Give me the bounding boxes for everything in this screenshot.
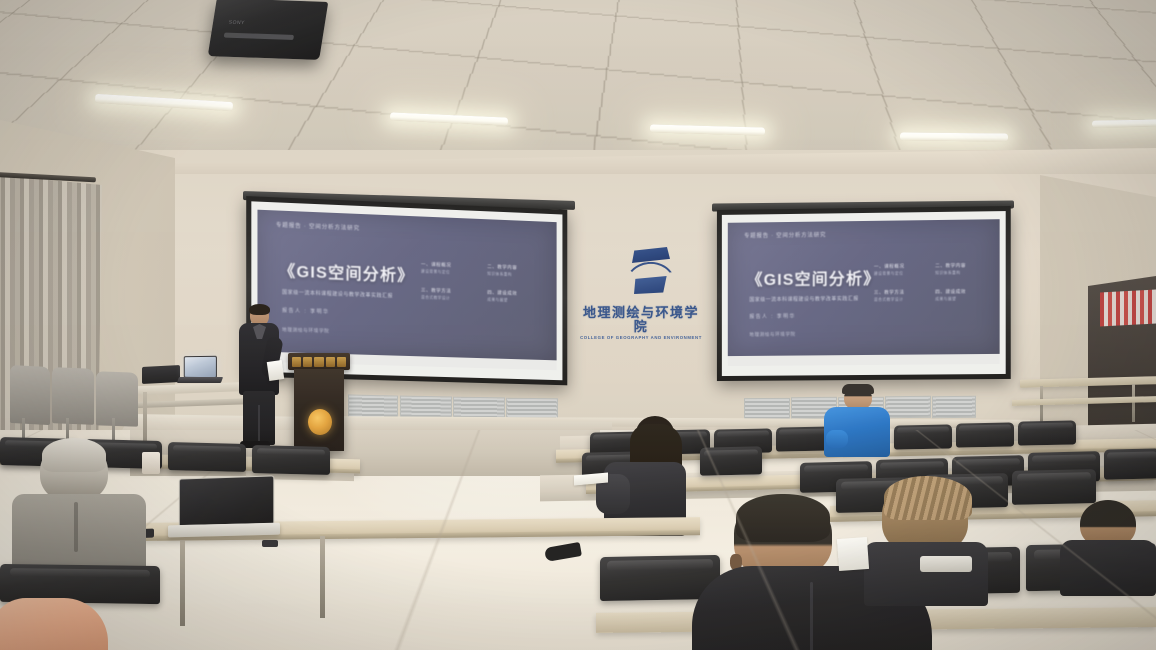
slide-content: 专题报告 · 空间分析方法研究 《GIS空间分析》 国家级一流本科课程建设与教学… (257, 210, 556, 361)
agenda-item-title: 二、教学内容 (487, 264, 545, 272)
seat-highlight (959, 425, 1010, 431)
seat (1018, 420, 1076, 445)
seat (1104, 448, 1156, 479)
agenda-item-title: 三、教学方法 (874, 289, 927, 296)
seat-highlight (1032, 454, 1095, 462)
slide-presenter-line: 报告人 : 李明华 (282, 307, 329, 316)
slide-affiliation-line: 地理测绘与环境学院 (282, 327, 329, 335)
right-projection-screen: 专题报告 · 空间分析方法研究 《GIS空间分析》 国家级一流本科课程建设与教学… (717, 206, 1011, 381)
attendee-torso (0, 598, 108, 650)
lectern-top-text (292, 356, 346, 367)
projector-icon: SONY (208, 0, 329, 60)
attendee-peach-top (0, 592, 110, 650)
slide-agenda-grid: 一、课程概况 建设背景与定位 二、教学内容 知识体系重构 三、教学方法 混合式教… (421, 261, 545, 304)
attendee-hair (736, 494, 830, 542)
slide-content: 专题报告 · 空间分析方法研究 《GIS空间分析》 国家级一流本科课程建设与教学… (728, 219, 1000, 356)
right-screen-canvas: 专题报告 · 空间分析方法研究 《GIS空间分析》 国家级一流本科课程建设与教学… (722, 211, 1006, 376)
seat-highlight (880, 461, 943, 469)
agenda-item-sub: 混合式教学设计 (874, 297, 927, 303)
slide-agenda-item: 一、课程概况 建设背景与定位 (874, 263, 927, 277)
slide-agenda-item: 二、教学内容 知识体系重构 (487, 264, 545, 279)
slide-agenda-item: 三、教学方法 混合式教学设计 (421, 287, 479, 302)
agenda-item-sub: 建设背景与定位 (421, 269, 479, 276)
seat-highlight (704, 449, 759, 456)
college-name-chinese: 地理测绘与环境学院 (578, 306, 704, 333)
slide-subtitle: 国家级一流本科课程建设与教学改革实践汇报 (282, 289, 393, 300)
wall-vent (744, 398, 790, 420)
seat-highlight (717, 431, 768, 437)
lectern-char (314, 357, 323, 367)
slide-header: 专题报告 · 空间分析方法研究 (744, 231, 826, 240)
attendee-torso (864, 542, 988, 606)
projector-brand-label: SONY (228, 19, 245, 26)
slide-subtitle: 国家级一流本科课程建设与教学改革实践汇报 (749, 295, 858, 303)
lectern (288, 353, 350, 451)
agenda-item-sub: 成果与展望 (935, 297, 989, 303)
side-chair (96, 371, 138, 426)
attendee-hair (884, 476, 972, 520)
seat-highlight (804, 464, 867, 472)
doorway-banner (1100, 290, 1156, 327)
agenda-item-title: 三、教学方法 (421, 287, 479, 295)
seat (168, 442, 246, 472)
attendee-light-hair (862, 476, 992, 596)
attendee-torso (1060, 540, 1156, 596)
agenda-item-title: 一、课程概况 (421, 261, 479, 269)
slide-header: 专题报告 · 空间分析方法研究 (276, 220, 360, 231)
lectern-char (303, 357, 312, 367)
presenter-notes (267, 360, 284, 381)
seat-highlight (1017, 473, 1091, 482)
agenda-item-sub: 知识体系重构 (935, 270, 989, 276)
lectern-seal-icon (308, 409, 332, 435)
seat-highlight (257, 448, 326, 456)
slide-agenda-item: 三、教学方法 混合式教学设计 (874, 289, 927, 303)
university-emblem-icon (620, 247, 678, 299)
emblem-bottom-shape (634, 276, 668, 294)
paper-cup (142, 452, 160, 474)
presenter-leg-split (258, 405, 260, 441)
seat-highlight (956, 458, 1019, 466)
seat-highlight (1021, 423, 1072, 429)
agenda-item-title: 四、建设成效 (487, 290, 545, 298)
slide-agenda-item: 四、建设成效 成果与展望 (935, 289, 989, 303)
college-name-english: COLLEGE OF GEOGRAPHY AND ENVIRONMENT (578, 335, 704, 340)
seat-highlight (173, 445, 242, 453)
agenda-item-title: 一、课程概况 (874, 263, 927, 270)
lectern-top (288, 353, 350, 370)
agenda-item-title: 二、教学内容 (935, 262, 989, 269)
slide-agenda-item: 四、建设成效 成果与展望 (487, 290, 545, 305)
slide-agenda-item: 二、教学内容 知识体系重构 (935, 262, 989, 276)
attendee-mid-right (1060, 500, 1156, 590)
slide-agenda-grid: 一、课程概况 建设背景与定位 二、教学内容 知识体系重构 三、教学方法 混合式教… (874, 262, 989, 302)
slide-affiliation-line: 地理测绘与环境学院 (749, 331, 795, 337)
presenter-hair (249, 304, 270, 315)
table-leg (1040, 386, 1043, 426)
paper-notes (837, 537, 869, 571)
seat (700, 446, 762, 475)
desk-leg (180, 540, 185, 626)
paper-document (920, 556, 972, 572)
attendee-blue-jacket (818, 386, 894, 466)
ceiling-light (1092, 119, 1156, 127)
lectern-body (294, 369, 344, 451)
presenter (238, 305, 280, 445)
attendee-jacket-seam (810, 582, 813, 650)
side-chair (10, 365, 50, 425)
attendee-collar-seam (74, 502, 78, 552)
wall-vent (932, 396, 976, 419)
seat (252, 445, 330, 475)
attendee-cap-icon (842, 384, 874, 394)
seat (894, 424, 952, 449)
attendee-hair (42, 438, 106, 472)
av-equipment-box (142, 365, 180, 384)
lectern-char (292, 357, 301, 367)
agenda-item-sub: 知识体系重构 (487, 272, 545, 279)
control-laptop-screen (184, 356, 217, 378)
side-chair (52, 367, 94, 425)
projector-lens-strip (224, 32, 294, 39)
seat-highlight (1107, 451, 1156, 459)
lectern-char (337, 357, 346, 367)
wall-vent (348, 394, 398, 418)
control-desk-leg (143, 392, 147, 444)
agenda-item-sub: 建设背景与定位 (874, 271, 927, 277)
agenda-item-sub: 成果与展望 (487, 298, 545, 305)
table-leg (1132, 384, 1135, 422)
seat (956, 422, 1014, 447)
slide-title: 《GIS空间分析》 (279, 257, 414, 286)
ceiling-light (900, 133, 1008, 142)
slide-presenter-line: 报告人 : 李明华 (749, 313, 795, 320)
desk-leg (320, 536, 325, 618)
attendee-senior-gray (18, 440, 138, 570)
emblem-top-shape (632, 247, 670, 263)
college-name-sign: 地理测绘与环境学院 COLLEGE OF GEOGRAPHY AND ENVIR… (578, 306, 704, 340)
lectern-char (326, 357, 335, 367)
attendee-torso (12, 494, 146, 572)
laptop-screen[interactable] (179, 475, 274, 526)
agenda-item-sub: 混合式教学设计 (421, 295, 479, 302)
agenda-item-title: 四、建设成效 (935, 289, 989, 296)
slide-agenda-item: 一、课程概况 建设背景与定位 (421, 261, 479, 276)
lecture-hall-photo: SONY 地理测绘与环境学院 COLLEGE OF GEOGRAPHY AND … (0, 0, 1156, 650)
seat-highlight (10, 568, 151, 578)
seat-highlight (897, 427, 948, 433)
control-laptop-base (177, 377, 223, 383)
pen (262, 540, 278, 547)
slide-title: 《GIS空间分析》 (747, 265, 881, 290)
attendee-arm (826, 430, 848, 448)
